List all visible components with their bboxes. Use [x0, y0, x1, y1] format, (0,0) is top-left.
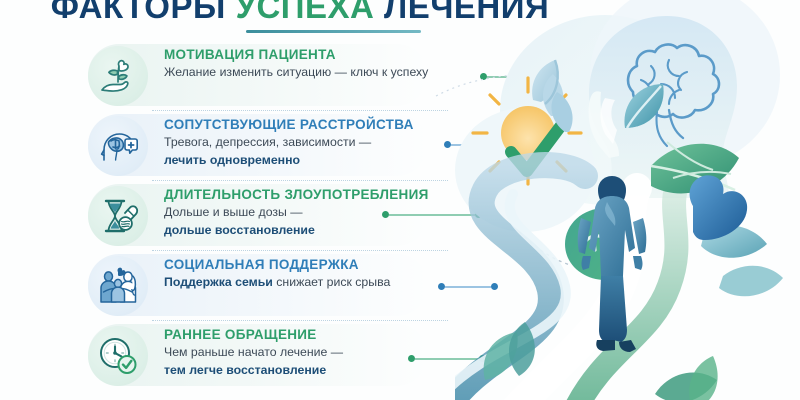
factor-heading: РАННЕЕ ОБРАЩЕНИЕ — [164, 326, 464, 343]
connector-dot-start — [408, 355, 415, 362]
factor-subtext: Желание изменить ситуацию — ключ к успех… — [164, 65, 464, 81]
row-separator — [152, 180, 448, 181]
factor-subtext-bold-line: дольше восстановление — [164, 223, 464, 239]
factor-heading: ДЛИТЕЛЬНОСТЬ ЗЛОУПОТРЕБЛЕНИЯ — [164, 186, 464, 203]
family-heart-icon — [88, 256, 148, 316]
factor-subtext-bold: дольше восстановление — [164, 223, 315, 237]
row-text: СОПУТСТВУЮЩИЕ РАССТРОЙСТВА Тревога, депр… — [164, 116, 464, 168]
row-text: МОТИВАЦИЯ ПАЦИЕНТА Желание изменить ситу… — [164, 46, 464, 81]
row-text: СОЦИАЛЬНАЯ ПОДДЕРЖКА Поддержка семьи сни… — [164, 256, 464, 291]
title-word-2: УСПЕХА — [235, 0, 374, 25]
factor-heading: МОТИВАЦИЯ ПАЦИЕНТА — [164, 46, 464, 63]
factor-list: МОТИВАЦИЯ ПАЦИЕНТА Желание изменить ситу… — [0, 40, 520, 390]
factor-heading: СОПУТСТВУЮЩИЕ РАССТРОЙСТВА — [164, 116, 464, 133]
factor-subtext-plain: Желание изменить ситуацию — ключ к успех… — [164, 65, 428, 79]
factor-subtext-plain: Тревога, депрессия, зависимости — — [164, 135, 371, 149]
row-text: РАННЕЕ ОБРАЩЕНИЕ Чем раньше начато лечен… — [164, 326, 464, 378]
infographic-canvas: ФАКТОРЫ УСПЕХА ЛЕЧЕНИЯ МОТИВАЦИЯ ПАЦИЕНТ… — [0, 0, 800, 400]
factor-row-comorbid[interactable]: СОПУТСТВУЮЩИЕ РАССТРОЙСТВА Тревога, депр… — [0, 110, 520, 180]
factor-subtext-bold: Поддержка семьи — [164, 275, 273, 289]
factor-subtext-bold: лечить одновременно — [164, 153, 300, 167]
factor-subtext-bold: тем легче восстановление — [164, 363, 326, 377]
row-separator — [152, 110, 448, 111]
factor-subtext-bold-line: лечить одновременно — [164, 153, 464, 169]
title-word-1: ФАКТОРЫ — [51, 0, 226, 25]
connector-dot-start — [382, 211, 389, 218]
connector-dot-start — [438, 283, 445, 290]
factor-subtext-plain: Дольше и выше дозы — — [164, 205, 303, 219]
connector-dot-start — [444, 141, 451, 148]
factor-row-motivation[interactable]: МОТИВАЦИЯ ПАЦИЕНТА Желание изменить ситу… — [0, 40, 520, 110]
factor-row-duration[interactable]: ДЛИТЕЛЬНОСТЬ ЗЛОУПОТРЕБЛЕНИЯ Дольше и вы… — [0, 180, 520, 250]
factor-subtext-plain: Чем раньше начато лечение — — [164, 345, 343, 359]
title-underline — [246, 30, 421, 33]
hourglass-pill-icon — [88, 186, 148, 246]
clock-check-icon — [88, 326, 148, 386]
row-separator — [152, 250, 448, 251]
factor-row-social-support[interactable]: СОЦИАЛЬНАЯ ПОДДЕРЖКА Поддержка семьи сни… — [0, 250, 520, 320]
hand-plant-heart-icon — [88, 46, 148, 106]
factor-row-early-treatment[interactable]: РАННЕЕ ОБРАЩЕНИЕ Чем раньше начато лечен… — [0, 320, 520, 390]
row-separator — [152, 320, 448, 321]
factor-subtext-plain: снижает риск срыва — [276, 275, 390, 289]
factor-subtext: Тревога, депрессия, зависимости — — [164, 135, 464, 151]
head-brain-plus-icon — [88, 116, 148, 176]
factor-subtext: Поддержка семьи снижает риск срыва — [164, 275, 464, 291]
illustration — [455, 0, 800, 400]
factor-subtext-bold-line: тем легче восстановление — [164, 363, 464, 379]
factor-heading: СОЦИАЛЬНАЯ ПОДДЕРЖКА — [164, 256, 464, 273]
